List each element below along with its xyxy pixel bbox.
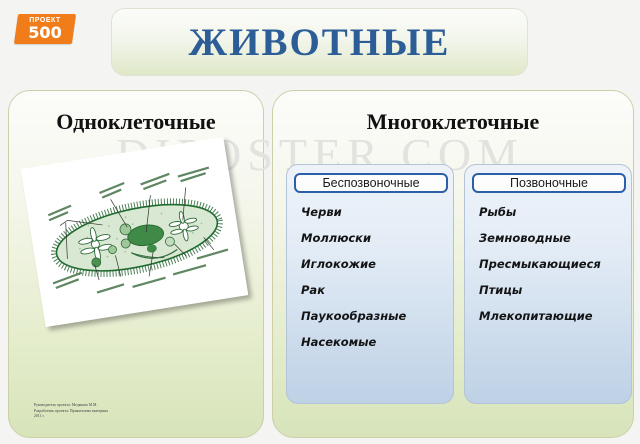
column-header-invertebrates[interactable]: Беспозвоночные <box>294 173 448 193</box>
proekt-500-logo: ПРОЕКТ 500 <box>14 14 76 44</box>
credits-line-author: Разработчик проекта: Прикатилова екатери… <box>34 409 108 415</box>
list-item: Земноводные <box>479 225 629 251</box>
list-item: Насекомые <box>301 329 451 355</box>
column-header-vertebrates[interactable]: Позвоночные <box>472 173 626 193</box>
panel-multicellular-heading: Многоклеточные <box>273 109 633 135</box>
credits-block: Руководитель проекта: Медянова М.М. Разр… <box>34 403 108 420</box>
list-item: Пресмыкающиеся <box>479 251 629 277</box>
list-item: Паукообразные <box>301 303 451 329</box>
list-vertebrates: Рыбы Земноводные Пресмыкающиеся Птицы Мл… <box>479 199 629 329</box>
list-item: Рак <box>301 277 451 303</box>
logo-bottom-text: 500 <box>28 25 61 41</box>
credits-line-supervisor: Руководитель проекта: Медянова М.М. <box>34 403 108 409</box>
list-item: Моллюски <box>301 225 451 251</box>
list-item: Иглокожие <box>301 251 451 277</box>
page-title: ЖИВОТНЫЕ <box>189 20 451 65</box>
list-item: Птицы <box>479 277 629 303</box>
panel-unicellular-heading: Одноклеточные <box>9 109 263 135</box>
column-header-invertebrates-label: Беспозвоночные <box>322 176 419 190</box>
infusoria-cell-diagram <box>21 137 249 327</box>
column-header-vertebrates-label: Позвоночные <box>510 176 588 190</box>
cell-diagram-svg <box>21 137 249 327</box>
list-invertebrates: Черви Моллюски Иглокожие Рак Паукообразн… <box>301 199 451 355</box>
list-item: Черви <box>301 199 451 225</box>
column-invertebrates: Беспозвоночные Черви Моллюски Иглокожие … <box>286 164 454 404</box>
slide-title-box: ЖИВОТНЫЕ <box>111 8 528 76</box>
credits-line-year: 2011 г. <box>34 414 108 420</box>
column-vertebrates: Позвоночные Рыбы Земноводные Пресмыкающи… <box>464 164 632 404</box>
list-item: Рыбы <box>479 199 629 225</box>
slide-canvas: ПРОЕКТ 500 ЖИВОТНЫЕ Одноклеточные Многок… <box>0 0 640 444</box>
list-item: Млекопитающие <box>479 303 629 329</box>
